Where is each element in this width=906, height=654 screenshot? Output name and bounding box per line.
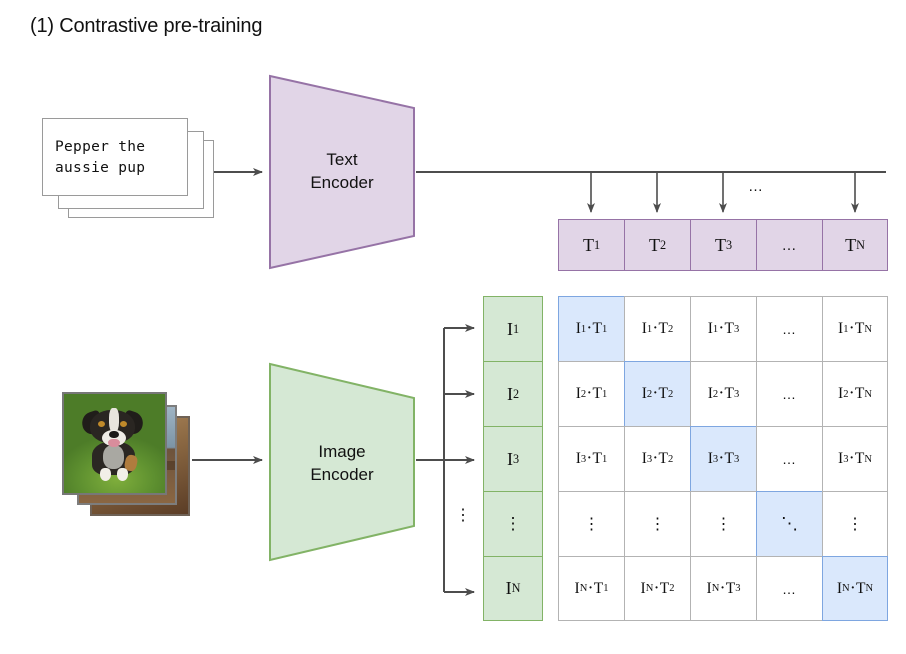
text-bus-ellipsis: … — [748, 178, 764, 195]
diagram-canvas: (1) Contrastive pre-training — [0, 0, 906, 654]
image-embedding-cell-ellipsis: ⋮ — [483, 491, 543, 556]
similarity-cell-ellipsis-h: … — [756, 361, 822, 426]
image-embedding-cell-N: IN — [483, 556, 543, 621]
similarity-cell-i3-t1: I3·T1 — [558, 426, 624, 491]
photo-front-puppy — [62, 392, 167, 495]
caption-card-stack: Pepper the aussie pup — [42, 118, 217, 218]
image-encoder-label: Image Encoder — [268, 440, 416, 486]
similarity-cell-iN-t1: IN·T1 — [558, 556, 624, 621]
image-encoder-label-line2: Encoder — [268, 463, 416, 486]
image-encoder-label-line1: Image — [268, 440, 416, 463]
image-encoder-block: Image Encoder — [268, 362, 416, 562]
similarity-matrix: I1·T1I1·T2I1·T3…I1·TNI2·T1I2·T2I2·T3…I2·… — [558, 296, 888, 621]
similarity-cell-i3-t3: I3·T3 — [690, 426, 756, 491]
text-embedding-cell-N: TN — [822, 219, 888, 271]
similarity-cell-iN-t3: IN·T3 — [690, 556, 756, 621]
similarity-cell-i2-t1: I2·T1 — [558, 361, 624, 426]
page-title: (1) Contrastive pre-training — [30, 13, 262, 39]
similarity-cell-i1-t2: I1·T2 — [624, 296, 690, 361]
similarity-cell-ellipsis-h: … — [756, 426, 822, 491]
caption-text: Pepper the aussie pup — [55, 137, 179, 179]
similarity-cell-ellipsis-h: … — [756, 296, 822, 361]
similarity-cell-ellipsis-diag: ⋱ — [756, 491, 822, 556]
image-embedding-column: I1I2I3⋮IN — [483, 296, 543, 621]
puppy-illustration — [64, 394, 165, 493]
image-embedding-cell-2: I2 — [483, 361, 543, 426]
similarity-cell-i3-tN: I3·TN — [822, 426, 888, 491]
similarity-cell-i3-t2: I3·T2 — [624, 426, 690, 491]
fanout-ellipsis: ⋮ — [455, 505, 471, 525]
text-encoder-block: Text Encoder — [268, 74, 416, 270]
similarity-cell-ellipsis-v: ⋮ — [690, 491, 756, 556]
caption-card-front: Pepper the aussie pup — [42, 118, 188, 196]
similarity-cell-ellipsis-v: ⋮ — [624, 491, 690, 556]
similarity-cell-iN-tN: IN·TN — [822, 556, 888, 621]
text-embedding-row: T1T2T3…TN — [558, 219, 888, 271]
image-embedding-cell-1: I1 — [483, 296, 543, 361]
similarity-cell-i1-tN: I1·TN — [822, 296, 888, 361]
similarity-cell-i2-t3: I2·T3 — [690, 361, 756, 426]
text-embedding-cell-ellipsis: … — [756, 219, 822, 271]
similarity-cell-i1-t1: I1·T1 — [558, 296, 624, 361]
similarity-cell-iN-t2: IN·T2 — [624, 556, 690, 621]
similarity-cell-i2-tN: I2·TN — [822, 361, 888, 426]
similarity-cell-ellipsis-v: ⋮ — [822, 491, 888, 556]
similarity-cell-ellipsis-v: ⋮ — [558, 491, 624, 556]
image-embedding-cell-3: I3 — [483, 426, 543, 491]
similarity-cell-i1-t3: I1·T3 — [690, 296, 756, 361]
similarity-cell-ellipsis-h: … — [756, 556, 822, 621]
text-embedding-cell-2: T2 — [624, 219, 690, 271]
text-embedding-cell-1: T1 — [558, 219, 624, 271]
text-embedding-cell-3: T3 — [690, 219, 756, 271]
text-encoder-label-line1: Text — [268, 148, 416, 171]
text-encoder-label-line2: Encoder — [268, 171, 416, 194]
text-encoder-label: Text Encoder — [268, 148, 416, 194]
photo-stack — [62, 392, 192, 518]
similarity-cell-i2-t2: I2·T2 — [624, 361, 690, 426]
